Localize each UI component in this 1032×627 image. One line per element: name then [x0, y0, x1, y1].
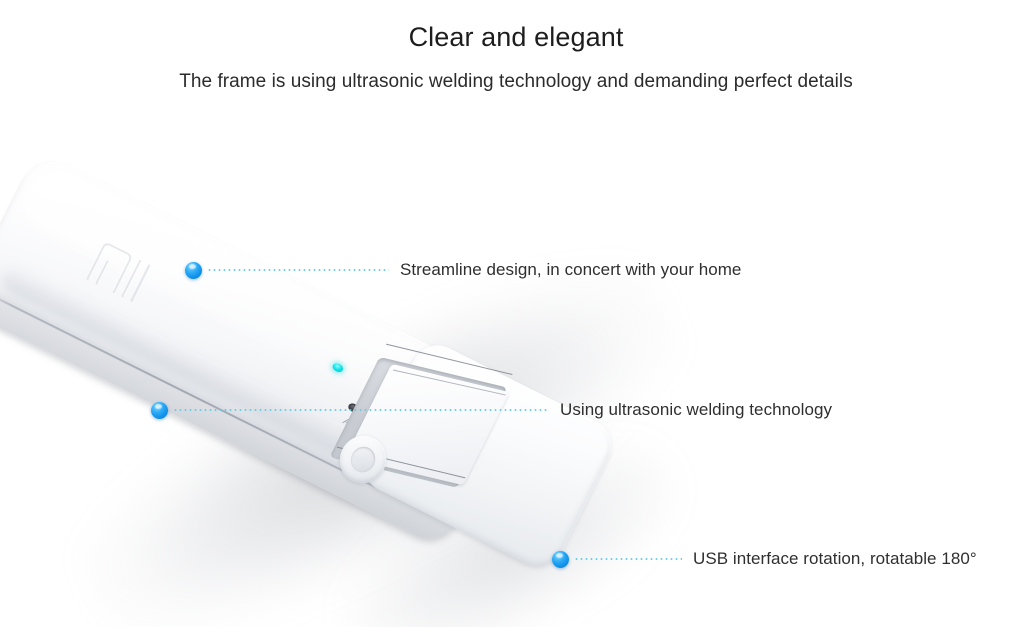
callout-label: Using ultrasonic welding technology: [560, 400, 832, 420]
callout-label: USB interface rotation, rotatable 180°: [693, 549, 977, 569]
callout-dot-icon[interactable]: [185, 262, 202, 279]
page-subtitle: The frame is using ultrasonic welding te…: [0, 69, 1032, 95]
callout-ultrasonic-welding: Using ultrasonic welding technology: [151, 399, 832, 421]
callout-label: Streamline design, in concert with your …: [400, 260, 741, 280]
usb-pivot-inner-ring: [346, 443, 379, 477]
product-feature-banner: Clear and elegant The frame is using ult…: [0, 0, 1032, 627]
callout-usb-rotation: USB interface rotation, rotatable 180°: [552, 548, 977, 570]
callout-dot-icon[interactable]: [151, 402, 168, 419]
page-title: Clear and elegant: [0, 20, 1032, 54]
callout-dot-icon[interactable]: [552, 551, 569, 568]
callout-leader-line: [207, 269, 389, 271]
callout-leader-line: [574, 558, 682, 560]
callout-leader-line: [173, 409, 549, 411]
callout-streamline-design: Streamline design, in concert with your …: [185, 259, 741, 281]
product-image: Reset Streamline design, in concert w: [0, 96, 1032, 627]
